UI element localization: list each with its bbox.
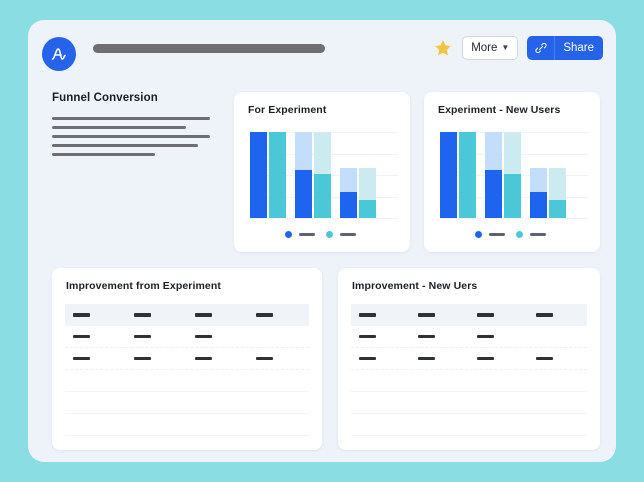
- table-row: [351, 414, 587, 436]
- bar-chart[interactable]: [440, 132, 588, 218]
- cell-placeholder-dash: [195, 313, 212, 317]
- cell-placeholder-dash: [477, 335, 494, 339]
- legend-dot[interactable]: [326, 231, 333, 238]
- table-header-row[interactable]: [65, 304, 309, 326]
- share-button-group[interactable]: Share: [527, 36, 603, 60]
- bar-group[interactable]: [340, 132, 376, 218]
- bar-segment-value: [340, 192, 357, 218]
- table-cell: [187, 335, 248, 339]
- funnel-summary-title: Funnel Conversion: [52, 92, 238, 104]
- bar-segment-value: [359, 200, 376, 218]
- bar[interactable]: [340, 168, 357, 218]
- table-cell: [469, 357, 528, 361]
- bar-group[interactable]: [530, 132, 566, 218]
- table-header-row[interactable]: [351, 304, 587, 326]
- table-header-cell: [65, 313, 126, 317]
- cell-placeholder-dash: [134, 335, 151, 339]
- legend-label-placeholder: [489, 233, 505, 236]
- chart-legend[interactable]: [424, 231, 600, 238]
- cell-placeholder-dash: [536, 357, 553, 361]
- more-button[interactable]: More ▼: [462, 36, 518, 60]
- table-header-cell: [126, 313, 187, 317]
- legend-dot[interactable]: [516, 231, 523, 238]
- table-row: [351, 370, 587, 392]
- legend-dot[interactable]: [285, 231, 292, 238]
- bar[interactable]: [295, 132, 312, 218]
- legend-label-placeholder: [530, 233, 546, 236]
- summary-placeholder-line: [52, 144, 198, 147]
- cell-placeholder-dash: [477, 313, 494, 317]
- table-cell: [65, 335, 126, 339]
- table-card-title: Improvement from Experiment: [66, 280, 221, 292]
- table-row[interactable]: [351, 348, 587, 370]
- table-cell: [410, 335, 469, 339]
- app-panel: More ▼ Share Funnel Conversion For Exper…: [28, 20, 616, 462]
- bar[interactable]: [549, 168, 566, 218]
- chart-card-experiment-new-users[interactable]: Experiment - New Users: [424, 92, 600, 252]
- table-header-cell: [528, 313, 587, 317]
- bar[interactable]: [250, 132, 267, 218]
- more-button-label: More: [471, 42, 497, 54]
- bar-segment-value: [530, 192, 547, 218]
- cell-placeholder-dash: [195, 335, 212, 339]
- legend-label-placeholder: [299, 233, 315, 236]
- cell-placeholder-dash: [477, 357, 494, 361]
- cell-placeholder-dash: [134, 313, 151, 317]
- cell-placeholder-dash: [418, 335, 435, 339]
- summary-placeholder-line: [52, 135, 210, 138]
- bar-group[interactable]: [485, 132, 521, 218]
- table-cell: [65, 357, 126, 361]
- bar-segment-remainder: [295, 132, 312, 170]
- star-icon[interactable]: [433, 38, 453, 58]
- bar-segment-remainder: [340, 168, 357, 192]
- bar-segment-value: [269, 132, 286, 218]
- funnel-summary-placeholder-lines: [52, 117, 238, 156]
- table-row: [65, 414, 309, 436]
- table-row[interactable]: [65, 326, 309, 348]
- cell-placeholder-dash: [256, 313, 273, 317]
- gridline: [440, 218, 588, 219]
- cell-placeholder-dash: [418, 357, 435, 361]
- bar-segment-value: [250, 132, 267, 218]
- table-cell: [187, 357, 248, 361]
- cell-placeholder-dash: [359, 335, 376, 339]
- share-button-label[interactable]: Share: [555, 36, 603, 60]
- table-header-cell: [351, 313, 410, 317]
- table-cell: [126, 357, 187, 361]
- bar-group[interactable]: [440, 132, 476, 218]
- header-actions: More ▼ Share: [433, 36, 603, 60]
- cell-placeholder-dash: [134, 357, 151, 361]
- table-card-title: Improvement - New Uers: [352, 280, 477, 292]
- bar-segment-value: [485, 170, 502, 218]
- summary-placeholder-line: [52, 153, 155, 156]
- bar-segment-value: [549, 200, 566, 218]
- bar-segment-remainder: [504, 132, 521, 174]
- chevron-down-icon: ▼: [501, 44, 509, 52]
- table-header-cell: [187, 313, 248, 317]
- table-cell: [528, 357, 587, 361]
- data-table: [351, 304, 587, 440]
- table-card-improvement-from-experiment[interactable]: Improvement from Experiment: [52, 268, 322, 450]
- bar[interactable]: [440, 132, 457, 218]
- bar-segment-remainder: [314, 132, 331, 174]
- cell-placeholder-dash: [73, 313, 90, 317]
- legend-dot[interactable]: [475, 231, 482, 238]
- gridline: [250, 218, 398, 219]
- dashboard-title-placeholder[interactable]: [93, 44, 325, 53]
- table-cell: [351, 335, 410, 339]
- bar[interactable]: [459, 132, 476, 218]
- cell-placeholder-dash: [256, 357, 273, 361]
- summary-placeholder-line: [52, 126, 186, 129]
- summary-placeholder-line: [52, 117, 210, 120]
- table-header-cell: [410, 313, 469, 317]
- table-header-cell: [248, 313, 309, 317]
- table-row: [65, 392, 309, 414]
- table-row: [65, 370, 309, 392]
- table-cell: [126, 335, 187, 339]
- legend-label-placeholder: [340, 233, 356, 236]
- cell-placeholder-dash: [536, 313, 553, 317]
- bar-group[interactable]: [250, 132, 286, 218]
- cell-placeholder-dash: [73, 357, 90, 361]
- funnel-summary-block: Funnel Conversion: [52, 92, 238, 162]
- bar[interactable]: [485, 132, 502, 218]
- table-header-cell: [469, 313, 528, 317]
- bar-segment-remainder: [549, 168, 566, 200]
- bar-segment-remainder: [359, 168, 376, 200]
- chart-legend[interactable]: [234, 231, 410, 238]
- bar-segment-remainder: [530, 168, 547, 192]
- app-header: More ▼ Share: [28, 20, 616, 86]
- bar-segment-value: [440, 132, 457, 218]
- copy-link-button[interactable]: [527, 36, 555, 60]
- bar[interactable]: [314, 132, 331, 218]
- table-row[interactable]: [65, 348, 309, 370]
- table-cell: [469, 335, 528, 339]
- table-cell: [351, 357, 410, 361]
- bar-segment-value: [504, 174, 521, 218]
- table-row[interactable]: [351, 326, 587, 348]
- chart-card-title: Experiment - New Users: [438, 104, 560, 116]
- bar-chart[interactable]: [250, 132, 398, 218]
- table-cell: [248, 357, 309, 361]
- bar-segment-value: [314, 174, 331, 218]
- cell-placeholder-dash: [195, 357, 212, 361]
- data-table: [65, 304, 309, 440]
- cell-placeholder-dash: [359, 313, 376, 317]
- bar-segment-remainder: [485, 132, 502, 170]
- cell-placeholder-dash: [73, 335, 90, 339]
- bar[interactable]: [269, 132, 286, 218]
- bar-group[interactable]: [295, 132, 331, 218]
- cell-placeholder-dash: [359, 357, 376, 361]
- link-icon: [534, 41, 548, 55]
- bar[interactable]: [504, 132, 521, 218]
- bar[interactable]: [530, 168, 547, 218]
- chart-card-title: For Experiment: [248, 104, 326, 116]
- amplitude-logo-icon[interactable]: [42, 37, 76, 71]
- chart-card-for-experiment[interactable]: For Experiment: [234, 92, 410, 252]
- bar-segment-value: [295, 170, 312, 218]
- table-card-improvement-new-uers[interactable]: Improvement - New Uers: [338, 268, 600, 450]
- bar[interactable]: [359, 168, 376, 218]
- chart-bars: [440, 132, 588, 218]
- cell-placeholder-dash: [418, 313, 435, 317]
- table-cell: [410, 357, 469, 361]
- bar-segment-value: [459, 132, 476, 218]
- chart-bars: [250, 132, 398, 218]
- table-row: [351, 392, 587, 414]
